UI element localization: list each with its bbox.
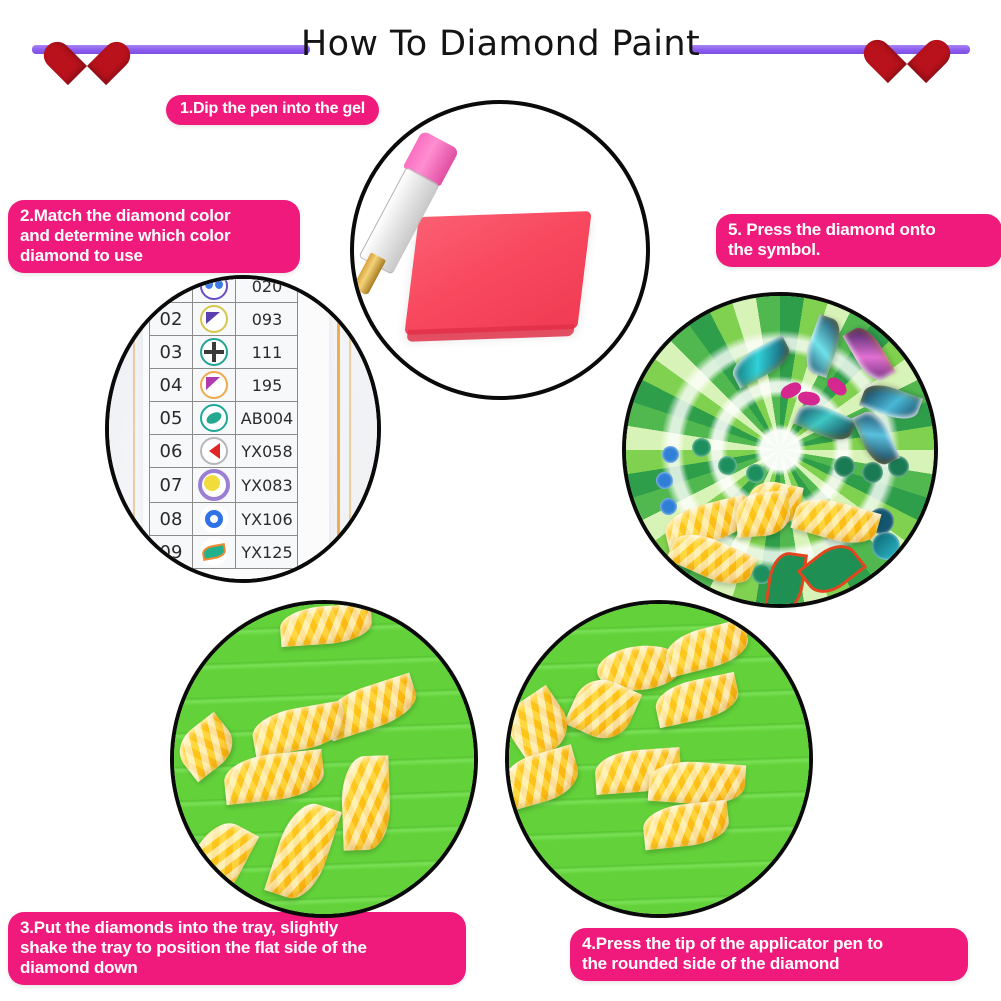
photo-pen-picking-diamond xyxy=(505,600,813,918)
pickup-scene xyxy=(509,604,809,914)
gem-round xyxy=(746,464,765,483)
gem-round xyxy=(656,472,673,489)
chart-cell-symbol xyxy=(193,369,236,402)
gem-round xyxy=(662,446,679,463)
chart-cell-symbol xyxy=(193,402,236,435)
chart-left-edge-line xyxy=(133,275,135,583)
table-row: 06 YX058 xyxy=(150,435,298,468)
header-banner: How To Diamond Paint xyxy=(0,0,1001,80)
chart-cell-no: 01 xyxy=(150,275,193,303)
chart-cell-symbol xyxy=(193,536,236,569)
chart-cell-no: 04 xyxy=(150,369,193,402)
table-row: 09 YX125 xyxy=(150,536,298,569)
chart-cell-symbol xyxy=(193,303,236,336)
gel-pad xyxy=(404,211,591,335)
magenta-triangle-icon xyxy=(200,371,228,399)
chart-cell-no: 07 xyxy=(150,468,193,503)
chart-cell-symbol xyxy=(193,336,236,369)
chart-cell-symbol xyxy=(193,435,236,468)
teal-oval-icon xyxy=(200,404,228,432)
color-chart-scene: 01 020 02 093 03 xyxy=(109,279,377,579)
mandala-scene xyxy=(626,296,934,604)
green-leaf-icon xyxy=(200,538,228,566)
table-row: 05 AB004 xyxy=(150,402,298,435)
chart-cell-symbol xyxy=(193,275,236,303)
table-row: 04 195 xyxy=(150,369,298,402)
purple-triangle-icon xyxy=(200,305,228,333)
table-row: 08 YX106 xyxy=(150,503,298,536)
chart-cell-symbol xyxy=(193,503,236,536)
chart-cell-no: 06 xyxy=(150,435,193,468)
gem-round xyxy=(660,498,677,515)
chart-cell-code: 111 xyxy=(236,336,298,369)
chart-cell-no: 08 xyxy=(150,503,193,536)
gem-round xyxy=(718,456,737,475)
page-title: How To Diamond Paint xyxy=(0,24,1001,64)
step-2-label: 2.Match the diamond color and determine … xyxy=(8,200,300,273)
gem-round xyxy=(862,462,883,483)
chart-cell-code: YX106 xyxy=(236,503,298,536)
chart-cell-code: YX125 xyxy=(236,536,298,569)
table-row: 01 020 xyxy=(150,275,298,303)
photo-press-diamond-on-symbol xyxy=(622,292,938,608)
color-chart-table: 01 020 02 093 03 xyxy=(149,275,298,569)
chart-cell-code: 093 xyxy=(236,303,298,336)
chart-cell-code: 195 xyxy=(236,369,298,402)
photo-color-chart: 01 020 02 093 03 xyxy=(105,275,381,583)
gem-round xyxy=(834,456,855,477)
table-row: 07 YX083 xyxy=(150,468,298,503)
chart-orange-line-2 xyxy=(349,275,351,583)
step-4-label: 4.Press the tip of the applicator pen to… xyxy=(570,928,968,981)
red-arrow-icon xyxy=(200,437,228,465)
step-5-label: 5. Press the diamond onto the symbol. xyxy=(716,214,1001,267)
chart-cell-no: 03 xyxy=(150,336,193,369)
pen-gel-scene xyxy=(354,104,646,396)
tray-scene xyxy=(174,604,474,914)
chart-cell-no: 09 xyxy=(150,536,193,569)
chart-cell-code: YX083 xyxy=(236,468,298,503)
chart-cell-no: 02 xyxy=(150,303,193,336)
table-row: 03 111 xyxy=(150,336,298,369)
chart-cell-code: 020 xyxy=(236,275,298,303)
infographic-canvas: How To Diamond Paint 1.Dip the pen into … xyxy=(0,0,1001,1001)
yellow-dot-icon xyxy=(198,469,230,501)
table-row: 02 093 xyxy=(150,303,298,336)
plus-icon xyxy=(200,338,228,366)
step-3-label: 3.Put the diamonds into the tray, slight… xyxy=(8,912,466,985)
chart-cell-code: AB004 xyxy=(236,402,298,435)
step-1-label: 1.Dip the pen into the gel xyxy=(166,95,379,125)
chart-cell-code: YX058 xyxy=(236,435,298,468)
gem-round xyxy=(872,532,900,560)
gem-round xyxy=(692,438,711,457)
blue-ring-icon xyxy=(200,505,228,533)
two-blue-dots-icon xyxy=(200,275,228,300)
chart-orange-line-1 xyxy=(337,275,340,583)
chart-cell-symbol xyxy=(193,468,236,503)
photo-diamonds-in-tray xyxy=(170,600,478,918)
photo-pen-dipping-gel xyxy=(350,100,650,400)
chart-cell-no: 05 xyxy=(150,402,193,435)
